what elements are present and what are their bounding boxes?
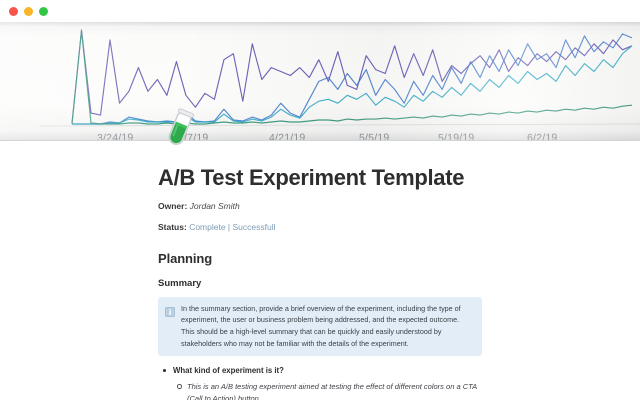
maximize-button[interactable]	[39, 7, 48, 16]
info-icon	[165, 304, 175, 314]
answer-list: This is an A/B testing experiment aimed …	[173, 381, 488, 400]
question-text: What kind of experiment is it?	[173, 365, 488, 377]
chart-x-axis-labels: 3/24/194/7/194/21/195/5/195/19/196/2/19	[0, 22, 640, 141]
owner-value: Jordan Smith	[190, 201, 240, 211]
app-window: 3/24/194/7/194/21/195/5/195/19/196/2/19 …	[0, 0, 640, 400]
window-titlebar	[0, 0, 640, 22]
status-badge[interactable]: Complete | Successfull	[189, 222, 275, 232]
owner-label: Owner:	[158, 201, 187, 211]
status-line: Status: Complete | Successfull	[158, 221, 488, 233]
close-button[interactable]	[9, 7, 18, 16]
page-title: A/B Test Experiment Template	[158, 165, 488, 191]
list-item: This is an A/B testing experiment aimed …	[173, 381, 488, 400]
document-body: A/B Test Experiment Template Owner: Jord…	[0, 141, 640, 400]
document-page: A/B Test Experiment Template Owner: Jord…	[158, 141, 488, 400]
answer-text: This is an A/B testing experiment aimed …	[187, 381, 488, 400]
chart-x-tick-label: 6/2/19	[527, 132, 557, 141]
minimize-button[interactable]	[24, 7, 33, 16]
status-label: Status:	[158, 222, 187, 232]
chart-x-tick-label: 4/21/19	[269, 132, 305, 141]
qa-list: What kind of experiment is it?This is an…	[158, 365, 488, 400]
chart-x-tick-label: 5/5/19	[359, 132, 389, 141]
cover-image[interactable]: 3/24/194/7/194/21/195/5/195/19/196/2/19	[0, 22, 640, 141]
owner-line: Owner: Jordan Smith	[158, 200, 488, 212]
section-heading-planning: Planning	[158, 251, 488, 266]
test-tube-icon	[163, 108, 197, 148]
chart-x-tick-label: 5/19/19	[438, 132, 474, 141]
info-callout: In the summary section, provide a brief …	[158, 297, 482, 357]
subsection-heading-summary: Summary	[158, 278, 488, 289]
list-item: What kind of experiment is it?This is an…	[158, 365, 488, 400]
chart-x-tick-label: 3/24/19	[97, 132, 133, 141]
callout-text: In the summary section, provide a brief …	[181, 303, 474, 350]
